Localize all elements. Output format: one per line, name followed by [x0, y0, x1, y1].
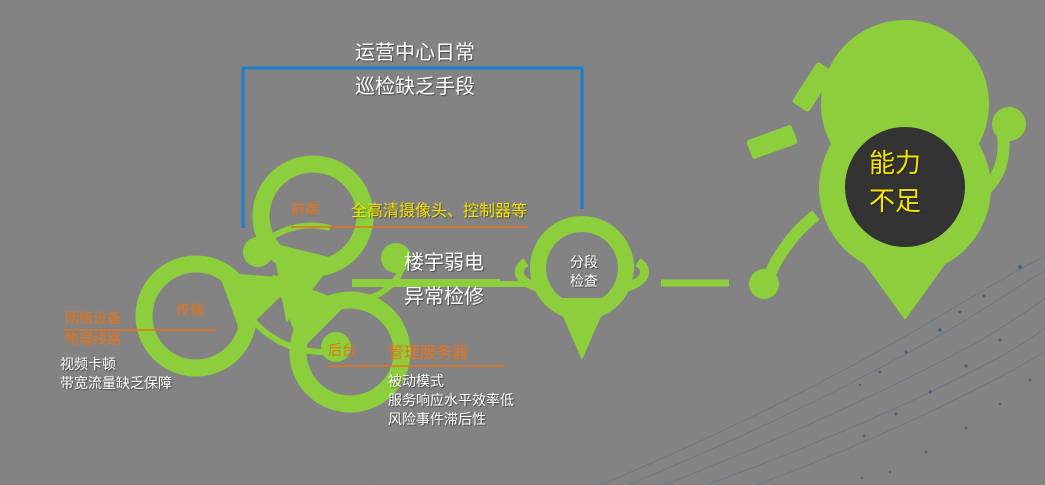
- node-front-description: 全高清摄像头、控制器等: [351, 201, 536, 223]
- node-backend-label: 管理服务器: [388, 345, 468, 364]
- text-rules: [0, 0, 1045, 485]
- segment-check-line2: 检查: [570, 273, 598, 290]
- node-backend-issue-2: 风险事件滞后性: [388, 411, 486, 428]
- segment-check-line1: 分段: [570, 254, 598, 271]
- header-title-line2: 巡检缺乏手段: [355, 76, 475, 100]
- capability-line2: 不足: [869, 186, 921, 217]
- node-transmission-label-0: 网络设备: [65, 310, 121, 327]
- node-transmission-label-1: 物理线路: [65, 331, 121, 348]
- node-transmission-issue-0: 视频卡顿: [60, 356, 116, 373]
- node-front-tag: 前端: [291, 201, 319, 218]
- header-title-line1: 运营中心日常: [355, 42, 475, 66]
- node-backend-issue-1: 服务响应水平效率低: [388, 392, 514, 409]
- center-caption-line1: 楼宇弱电: [404, 252, 484, 276]
- center-caption-line2: 异常检修: [404, 286, 484, 310]
- infographic-canvas: 运营中心日常 巡检缺乏手段 楼宇弱电 异常检修 前端 全高清摄像头、控制器等 传…: [0, 0, 1045, 485]
- node-backend-tag: 后台: [328, 342, 356, 359]
- node-transmission-tag: 传输: [176, 302, 204, 319]
- node-backend-issue-0: 被动模式: [388, 373, 444, 390]
- capability-line1: 能力: [869, 148, 921, 179]
- node-transmission-issue-1: 带宽流量缺乏保障: [60, 375, 172, 392]
